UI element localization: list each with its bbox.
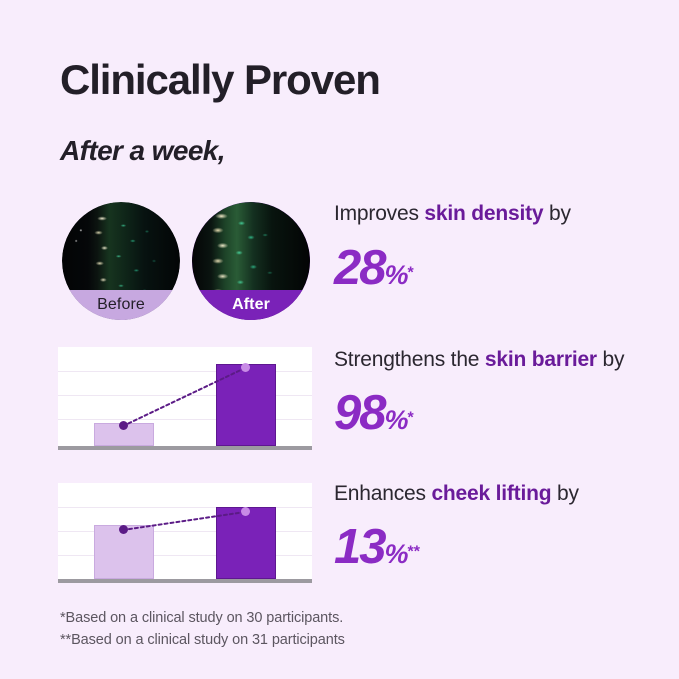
- footnote-1: *Based on a clinical study on 30 partici…: [60, 610, 343, 626]
- chart-axis: [58, 446, 312, 450]
- trend-dot-after: [241, 363, 250, 372]
- claim-prefix: Strengthens the: [334, 348, 485, 371]
- claim-prefix: Enhances: [334, 482, 431, 505]
- claim-highlight: cheek lifting: [431, 482, 551, 505]
- page-subtitle: After a week,: [60, 137, 225, 165]
- footnote-2: **Based on a clinical study on 31 partic…: [60, 632, 345, 648]
- claim-skin-density: Improves skin density by: [334, 202, 571, 226]
- before-photo: Before: [62, 202, 180, 320]
- claim-cheek-lifting: Enhances cheek lifting by: [334, 482, 579, 506]
- stat-unit: %: [385, 539, 408, 569]
- stat-skin-density: 28%*: [334, 240, 414, 296]
- claim-suffix: by: [551, 482, 578, 505]
- claim-prefix: Improves: [334, 202, 424, 225]
- after-label: After: [192, 290, 310, 320]
- claim-skin-barrier: Strengthens the skin barrier by: [334, 348, 624, 372]
- stat-skin-barrier: 98%*: [334, 385, 414, 441]
- trend-line: [58, 483, 312, 583]
- stat-value: 13: [334, 520, 385, 574]
- before-label: Before: [62, 290, 180, 320]
- trend-line: [58, 347, 312, 450]
- claim-suffix: by: [543, 202, 570, 225]
- trend-dot-after: [241, 507, 250, 516]
- chart-axis: [58, 579, 312, 583]
- stat-cheek-lifting: 13%**: [334, 519, 420, 575]
- stat-unit: %: [385, 260, 408, 290]
- claim-highlight: skin density: [424, 202, 543, 225]
- cheek-lifting-chart: [58, 483, 312, 583]
- after-photo: After: [192, 202, 310, 320]
- page-title: Clinically Proven: [60, 59, 380, 101]
- trend-dot-before: [119, 525, 128, 534]
- stat-value: 28: [334, 241, 385, 295]
- stat-footnote-marker: *: [408, 410, 414, 427]
- stat-unit: %: [385, 405, 408, 435]
- clinical-results-card: Clinically Proven After a week, Before A…: [0, 0, 679, 679]
- stat-footnote-marker: *: [408, 265, 414, 282]
- stat-value: 98: [334, 386, 385, 440]
- claim-suffix: by: [597, 348, 624, 371]
- trend-dot-before: [119, 421, 128, 430]
- stat-footnote-marker: **: [408, 544, 420, 561]
- claim-highlight: skin barrier: [485, 348, 597, 371]
- skin-barrier-chart: [58, 347, 312, 450]
